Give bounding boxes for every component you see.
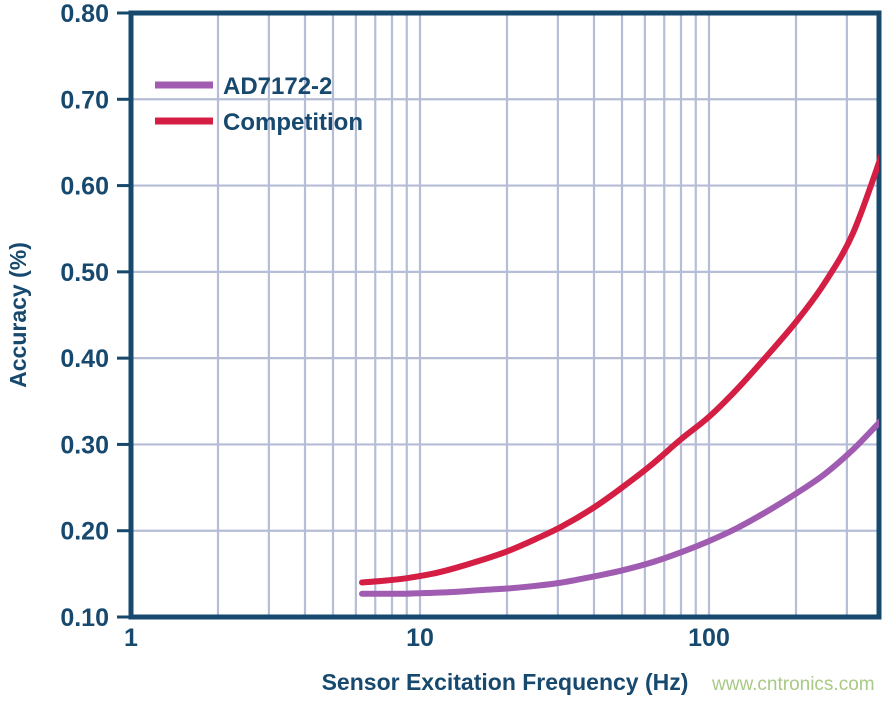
accuracy-vs-frequency-chart: 0.100.200.300.400.500.600.700.80 110100 …: [0, 0, 891, 705]
y-axis-tick-label: 0.50: [60, 259, 109, 287]
watermark-label: www.cntronics.com: [711, 674, 875, 695]
legend-label-ad7172-2: AD7172-2: [223, 73, 332, 100]
y-axis-title: Accuracy (%): [5, 242, 31, 388]
legend-label-competition: Competition: [223, 109, 363, 136]
x-axis-title: Sensor Excitation Frequency (Hz): [322, 669, 689, 695]
x-axis-tick-label: 10: [406, 624, 434, 652]
chart-background: [0, 0, 891, 705]
y-axis-tick-label: 0.30: [60, 431, 109, 459]
y-axis-tick-label: 0.80: [60, 0, 109, 28]
y-axis-tick-label: 0.70: [60, 86, 109, 114]
x-axis-tick-label: 100: [688, 624, 730, 652]
y-axis-tick-label: 0.20: [60, 518, 109, 546]
chart-container: 0.100.200.300.400.500.600.700.80 110100 …: [0, 0, 891, 705]
y-axis-tick-label: 0.10: [60, 604, 109, 632]
x-axis-tick-label: 1: [124, 624, 138, 652]
y-axis-tick-label: 0.40: [60, 345, 109, 373]
y-axis-tick-label: 0.60: [60, 173, 109, 201]
